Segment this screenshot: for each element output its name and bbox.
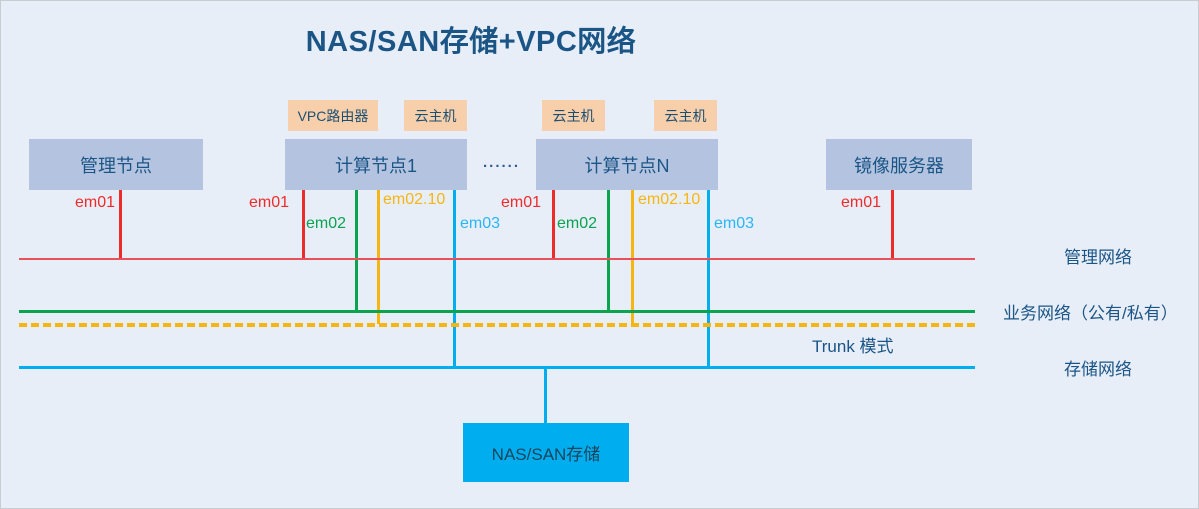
interface-link xyxy=(377,190,380,324)
interface-link xyxy=(552,190,555,259)
storage-drop-link xyxy=(544,367,547,425)
interface-label: em01 xyxy=(75,194,115,212)
interface-link xyxy=(119,190,122,259)
interface-label: em01 xyxy=(841,194,881,212)
network-bus-line xyxy=(19,366,975,369)
node-box[interactable]: 镜像服务器 xyxy=(826,139,972,190)
vm-box[interactable]: VPC路由器 xyxy=(288,100,378,131)
network-bus-line xyxy=(19,323,975,327)
network-bus-line xyxy=(19,258,975,260)
vm-box[interactable]: 云主机 xyxy=(404,100,467,131)
network-bus-line xyxy=(19,310,975,313)
interface-link xyxy=(607,190,610,311)
node-ellipsis: ...... xyxy=(483,154,520,171)
network-name-label: 业务网络（公有/私有） xyxy=(1003,299,1178,324)
interface-label: em03 xyxy=(460,215,500,233)
vm-box[interactable]: 云主机 xyxy=(654,100,717,131)
interface-label: em03 xyxy=(714,215,754,233)
interface-label: em02 xyxy=(306,215,346,233)
interface-link xyxy=(707,190,710,368)
interface-label: em01 xyxy=(501,194,541,212)
node-box[interactable]: 计算节点N xyxy=(536,139,718,190)
diagram-canvas: NAS/SAN存储+VPC网络 VPC路由器云主机云主机云主机 管理节点计算节点… xyxy=(0,0,1199,509)
vm-box[interactable]: 云主机 xyxy=(542,100,605,131)
network-name-label: 管理网络 xyxy=(1064,243,1132,268)
interface-label: em02 xyxy=(557,215,597,233)
interface-label: em01 xyxy=(249,194,289,212)
node-box[interactable]: 计算节点1 xyxy=(285,139,467,190)
interface-link xyxy=(302,190,305,259)
interface-link xyxy=(453,190,456,368)
interface-link xyxy=(891,190,894,259)
network-name-label: 存储网络 xyxy=(1064,355,1132,380)
page-title: NAS/SAN存储+VPC网络 xyxy=(1,18,941,60)
storage-box: NAS/SAN存储 xyxy=(463,423,629,482)
interface-link xyxy=(631,190,634,324)
interface-label: em02.10 xyxy=(383,191,445,209)
node-box[interactable]: 管理节点 xyxy=(29,139,203,190)
interface-label: em02.10 xyxy=(638,191,700,209)
trunk-mode-label: Trunk 模式 xyxy=(812,332,894,357)
interface-link xyxy=(355,190,358,311)
